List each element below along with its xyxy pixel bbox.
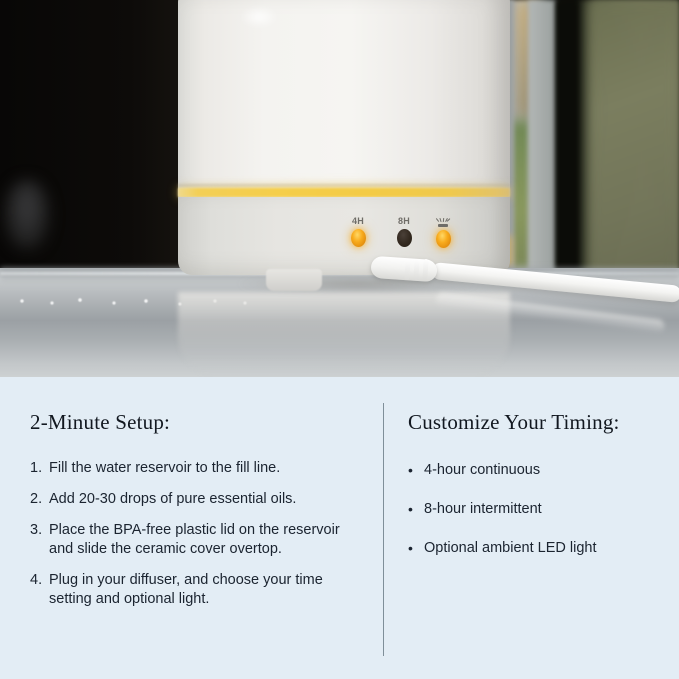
control-8h-label: 8H	[390, 216, 418, 226]
step-number: 4.	[30, 571, 49, 609]
setup-step-list: 1. Fill the water reservoir to the fill …	[30, 435, 366, 609]
column-divider	[383, 403, 384, 656]
list-item: 1. Fill the water reservoir to the fill …	[30, 459, 366, 478]
step-text: Place the BPA-free plastic lid on the re…	[49, 521, 366, 559]
setup-title: 2-Minute Setup:	[30, 377, 366, 435]
bullet-text: 8-hour intermittent	[424, 500, 660, 519]
diffuser-highlight	[240, 6, 278, 28]
instructions-panel: 2-Minute Setup: 1. Fill the water reserv…	[0, 377, 679, 679]
background-blur-object	[4, 180, 50, 250]
control-8h-led	[397, 229, 412, 247]
window-frame-mid	[528, 0, 556, 286]
bullet-text: 4-hour continuous	[424, 461, 660, 480]
list-item: 2. Add 20-30 drops of pure essential oil…	[30, 490, 366, 509]
window-mullion	[556, 0, 578, 288]
light-rays-icon	[435, 216, 451, 227]
bullet-dot-icon: •	[408, 539, 424, 558]
step-number: 3.	[30, 521, 49, 559]
diffuser-foot	[266, 269, 322, 291]
list-item: • 4-hour continuous	[408, 461, 660, 480]
bullet-dot-icon: •	[408, 500, 424, 519]
timing-title: Customize Your Timing:	[408, 377, 660, 435]
diffuser-upper-shell	[178, 0, 510, 200]
control-ambient-light[interactable]	[429, 216, 457, 248]
ambient-led-band	[178, 188, 510, 197]
bullet-dot-icon: •	[408, 461, 424, 480]
product-infographic: 4H 8H 2-Minute	[0, 0, 679, 679]
control-4h-led	[351, 229, 366, 247]
control-4h-label: 4H	[344, 216, 372, 226]
list-item: 4. Plug in your diffuser, and choose you…	[30, 571, 366, 609]
control-4h[interactable]: 4H	[344, 216, 372, 247]
step-text: Fill the water reservoir to the fill lin…	[49, 459, 366, 478]
list-item: 3. Place the BPA-free plastic lid on the…	[30, 521, 366, 559]
step-number: 1.	[30, 459, 49, 478]
list-item: • Optional ambient LED light	[408, 539, 660, 558]
bullet-text: Optional ambient LED light	[424, 539, 660, 558]
control-light-led	[436, 230, 451, 248]
product-photo: 4H 8H	[0, 0, 679, 377]
list-item: • 8-hour intermittent	[408, 500, 660, 519]
step-text: Plug in your diffuser, and choose your t…	[49, 571, 366, 609]
background-foliage	[588, 0, 679, 292]
setup-column: 2-Minute Setup: 1. Fill the water reserv…	[30, 377, 366, 621]
diffuser-body	[178, 0, 510, 292]
step-text: Add 20-30 drops of pure essential oils.	[49, 490, 366, 509]
timing-column: Customize Your Timing: • 4-hour continuo…	[408, 377, 660, 578]
control-8h[interactable]: 8H	[390, 216, 418, 247]
step-number: 2.	[30, 490, 49, 509]
timing-bullet-list: • 4-hour continuous • 8-hour intermitten…	[408, 435, 660, 558]
